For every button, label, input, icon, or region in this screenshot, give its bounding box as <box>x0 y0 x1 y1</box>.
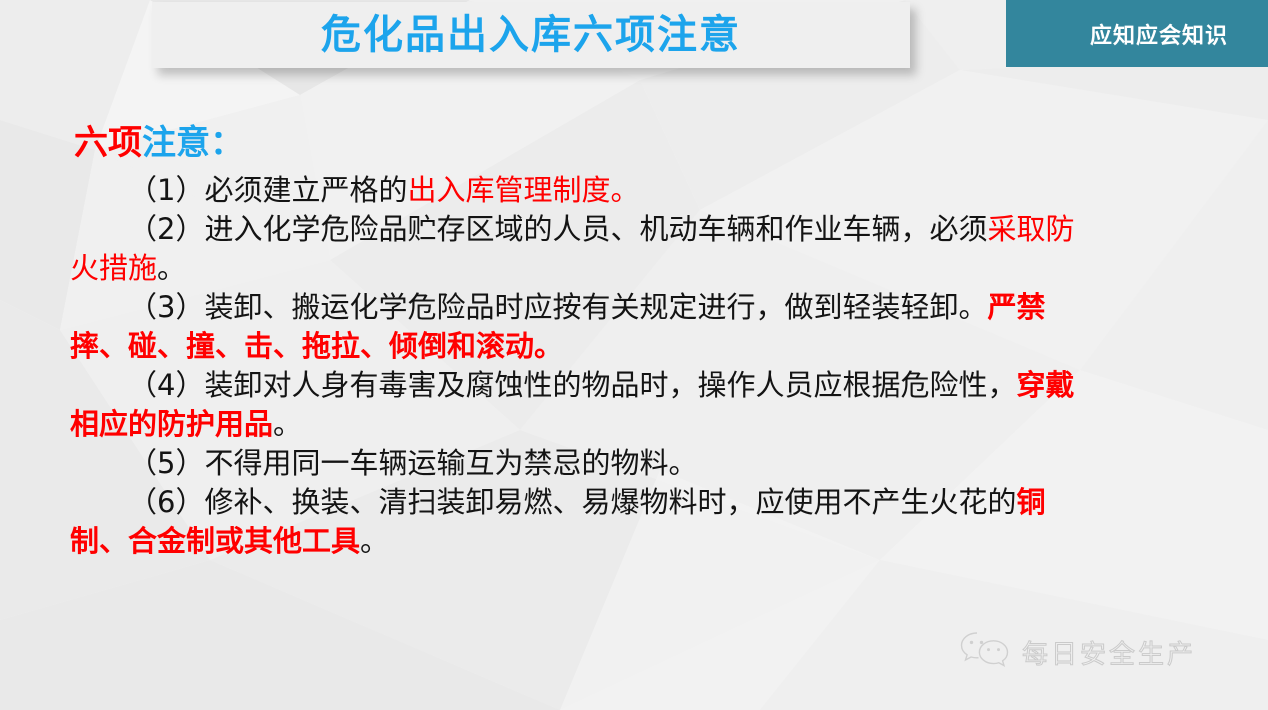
section-heading: 六项注意： <box>74 122 1100 165</box>
notice-item-number: （5） <box>128 446 204 480</box>
notice-item-segment: 装卸、搬运化学危险品时应按有关规定进行，做到轻装轻卸。 <box>204 290 987 324</box>
notice-item-segment: 不得用同一车辆运输互为禁忌的物料。 <box>204 446 697 480</box>
notice-item-number: （4） <box>128 368 204 402</box>
notice-item-number: （1） <box>128 173 204 207</box>
corner-badge-label: 应知应会知识 <box>1046 18 1228 50</box>
page-title: 危化品出入库六项注意 <box>321 15 741 55</box>
notice-item-segment: 。 <box>157 251 186 285</box>
notice-item-segment: 必须建立严格的 <box>204 173 407 207</box>
notice-item: （2）进入化学危险品贮存区域的人员、机动车辆和作业车辆，必须采取防火措施。 <box>70 210 1100 288</box>
notice-item: （3）装卸、搬运化学危险品时应按有关规定进行，做到轻装轻卸。严禁摔、碰、撞、击、… <box>70 288 1100 366</box>
section-heading-red: 六项 <box>74 123 142 163</box>
notice-item-segment: 修补、换装、清扫装卸易燃、易爆物料时，应使用不产生火花的 <box>204 485 1016 519</box>
notice-item-number: （3） <box>128 290 204 324</box>
corner-badge: 应知应会知识 <box>1006 0 1268 67</box>
watermark: 每日安全生产 <box>960 630 1196 675</box>
section-heading-blue: 注意： <box>142 123 244 163</box>
notice-item-segment: 装卸对人身有毒害及腐蚀性的物品时，操作人员应根据危险性， <box>204 368 1016 402</box>
slide-title-panel: 危化品出入库六项注意 <box>152 2 910 68</box>
notice-item-list: （1）必须建立严格的出入库管理制度。（2）进入化学危险品贮存区域的人员、机动车辆… <box>70 171 1100 561</box>
notice-item-segment: 进入化学危险品贮存区域的人员、机动车辆和作业车辆，必须 <box>204 212 987 246</box>
notice-item: （4）装卸对人身有毒害及腐蚀性的物品时，操作人员应根据危险性，穿戴相应的防护用品… <box>70 366 1100 444</box>
notice-item-segment: 。 <box>273 407 302 441</box>
notice-item: （6）修补、换装、清扫装卸易燃、易爆物料时，应使用不产生火花的铜制、合金制或其他… <box>70 483 1100 561</box>
notice-item-segment: 。 <box>360 524 389 558</box>
notice-item: （5）不得用同一车辆运输互为禁忌的物料。 <box>70 444 1100 483</box>
notice-item-number: （6） <box>128 485 204 519</box>
notice-item: （1）必须建立严格的出入库管理制度。 <box>70 171 1100 210</box>
watermark-label: 每日安全生产 <box>1022 634 1196 671</box>
slide-canvas: 危化品出入库六项注意 应知应会知识 六项注意： （1）必须建立严格的出入库管理制… <box>0 0 1268 710</box>
slide-content: 六项注意： （1）必须建立严格的出入库管理制度。（2）进入化学危险品贮存区域的人… <box>70 122 1100 561</box>
notice-item-number: （2） <box>128 212 204 246</box>
wechat-icon <box>960 630 1012 675</box>
notice-item-segment: 出入库管理制度。 <box>407 173 639 207</box>
